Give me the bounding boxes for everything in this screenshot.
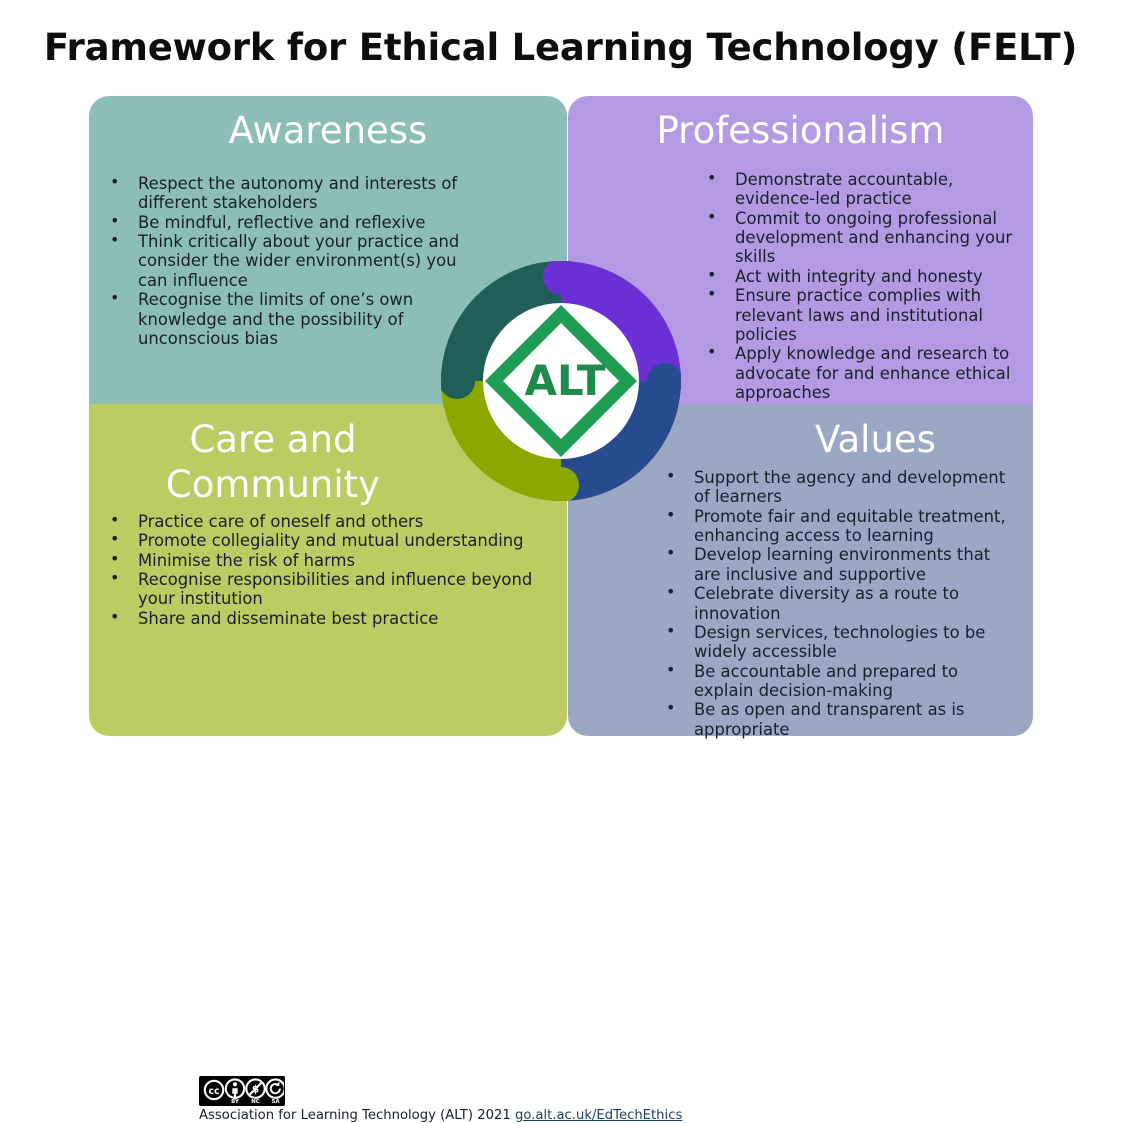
- list-item: Think critically about your practice and…: [100, 232, 472, 290]
- page-title: Framework for Ethical Learning Technolog…: [0, 28, 1121, 69]
- list-item: Promote collegiality and mutual understa…: [100, 531, 562, 550]
- list-item: Recognise the limits of one’s own knowle…: [100, 290, 472, 348]
- svg-text:BY: BY: [231, 1099, 239, 1105]
- edtechethics-link[interactable]: go.alt.ac.uk/EdTechEthics: [515, 1108, 682, 1123]
- bullet-list-awareness: Respect the autonomy and interests of di…: [100, 174, 472, 348]
- list-item: Respect the autonomy and interests of di…: [100, 174, 472, 213]
- list-item: Demonstrate accountable, evidence-led pr…: [697, 170, 1027, 209]
- list-item: Develop learning environments that are i…: [656, 545, 1018, 584]
- list-item: Celebrate diversity as a route to innova…: [656, 584, 1018, 623]
- list-item: Apply knowledge and research to advocate…: [697, 344, 1027, 402]
- bullet-wrap-care: Practice care of oneself and others Prom…: [100, 512, 562, 628]
- bullet-list-care: Practice care of oneself and others Prom…: [100, 512, 562, 628]
- list-item: Recognise responsibilities and influence…: [100, 570, 562, 609]
- alt-logo-assembly: ALT: [441, 261, 681, 501]
- svg-text:cc: cc: [208, 1086, 219, 1097]
- quadrant-heading-professionalism: Professionalism: [568, 96, 1033, 153]
- bullet-list-professionalism: Demonstrate accountable, evidence-led pr…: [697, 170, 1027, 402]
- list-item: Commit to ongoing professional developme…: [697, 209, 1027, 267]
- list-item: Minimise the risk of harms: [100, 551, 562, 570]
- list-item: Design services, technologies to be wide…: [656, 623, 1018, 662]
- list-item: Ensure practice complies with relevant l…: [697, 286, 1027, 344]
- bullet-wrap-values: Support the agency and development of le…: [656, 468, 1018, 739]
- licence-attribution: Association for Learning Technology (ALT…: [199, 1108, 682, 1123]
- svg-text:SA: SA: [271, 1099, 280, 1105]
- alt-wordmark: ALT: [525, 356, 606, 405]
- list-item: Be mindful, reflective and reflexive: [100, 213, 472, 232]
- bullet-wrap-professionalism: Demonstrate accountable, evidence-led pr…: [697, 170, 1027, 402]
- quadrant-heading-awareness: Awareness: [89, 96, 567, 153]
- cc-by-nc-sa-badge: cc BY $ NC SA: [199, 1076, 285, 1106]
- list-item: Act with integrity and honesty: [697, 267, 1027, 286]
- bullet-wrap-awareness: Respect the autonomy and interests of di…: [100, 174, 472, 348]
- alt-ring-icon: ALT: [441, 261, 681, 501]
- list-item: Promote fair and equitable treatment, en…: [656, 507, 1018, 546]
- list-item: Share and disseminate best practice: [100, 609, 562, 628]
- svg-text:NC: NC: [251, 1099, 260, 1105]
- list-item: Be as open and transparent as is appropr…: [656, 700, 1018, 739]
- list-item: Be accountable and prepared to explain d…: [656, 662, 1018, 701]
- list-item: Support the agency and development of le…: [656, 468, 1018, 507]
- bullet-list-values: Support the agency and development of le…: [656, 468, 1018, 739]
- attribution-text: Association for Learning Technology (ALT…: [199, 1108, 511, 1123]
- list-item: Practice care of oneself and others: [100, 512, 562, 531]
